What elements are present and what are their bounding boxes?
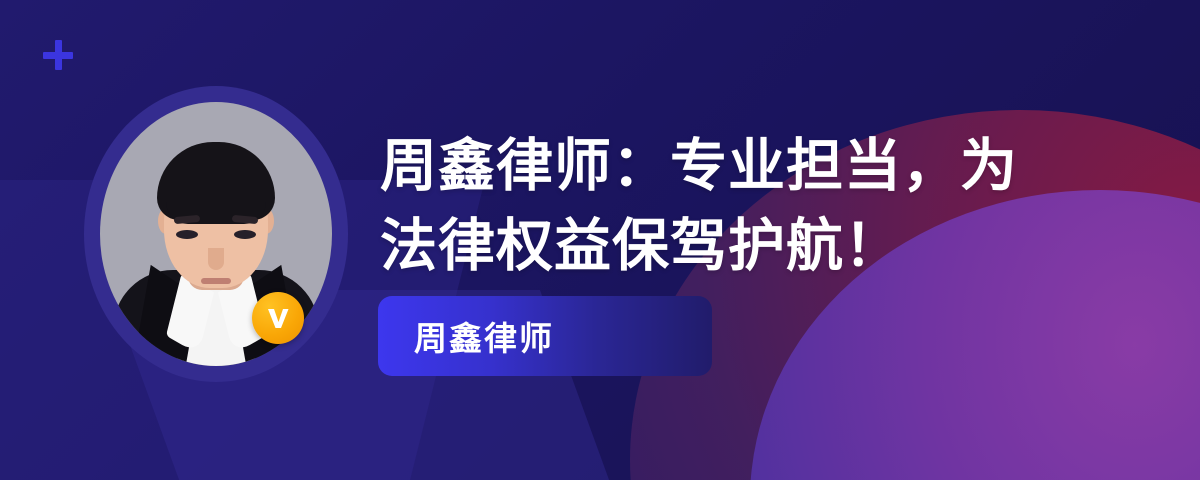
headline-line-2: 法律权益保驾护航！ [380,206,1080,286]
author-name-pill[interactable]: 周鑫律师 [378,296,712,376]
promo-banner: 周鑫律师：专业担当，为 法律权益保驾护航！ 周鑫律师 [0,0,1200,480]
page-title: 周鑫律师：专业担当，为 法律权益保驾护航！ [380,126,1080,286]
portrait-eye-right [234,230,256,239]
portrait-hair [157,142,275,220]
portrait-nose [208,248,224,270]
plus-icon [43,40,73,70]
portrait-mouth [201,278,231,284]
plus-icon-vertical-bar [55,40,62,70]
headline-line-1: 周鑫律师：专业担当，为 [380,126,1080,206]
author-name-label: 周鑫律师 [414,312,554,360]
verified-badge-icon [252,292,304,344]
portrait-eye-left [176,230,198,239]
avatar[interactable] [84,86,348,382]
verified-check-glyph [263,303,293,333]
